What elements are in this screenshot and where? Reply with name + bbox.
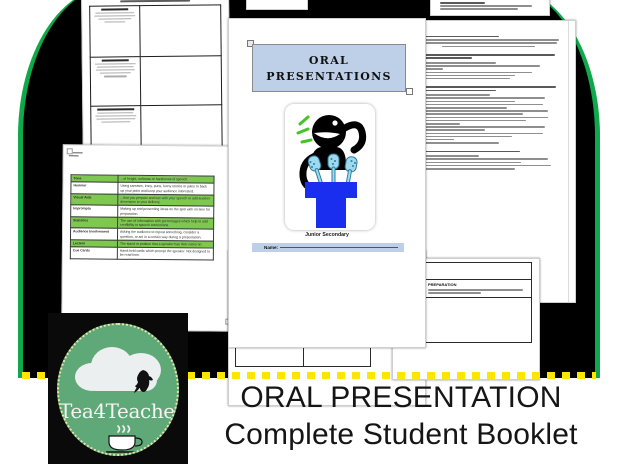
table-row — [90, 56, 222, 106]
cover-name-writing-line — [280, 247, 398, 248]
preparation-heading: PREPARATION — [428, 282, 457, 287]
structure-row-answer-cell[interactable] — [139, 5, 221, 57]
document-page-glossary: Tone...of height, softness or harshness … — [61, 144, 238, 332]
label-underline — [97, 108, 135, 110]
survey-option-list — [424, 155, 562, 169]
cover-title-line1: ORAL — [309, 54, 349, 67]
label-underline — [101, 59, 129, 61]
glossary-term-cell: Statistics — [71, 217, 118, 229]
survey-option-list — [424, 94, 562, 143]
glossary-table: Tone...of height, softness or harshness … — [70, 174, 215, 260]
textbox-handle-bottom-right[interactable] — [406, 88, 413, 95]
cover-name-field[interactable]: Name: — [252, 243, 404, 252]
teacup-icon — [103, 425, 143, 455]
glossary-term-cell: Cue Cards — [70, 247, 117, 259]
prep-answer-cell[interactable] — [426, 263, 532, 280]
cover-subtitle: Junior Secondary — [228, 232, 426, 238]
sheet-edge — [246, 0, 308, 10]
speaker-at-podium-icon — [285, 104, 375, 230]
logo-circle: Tea4Teacher — [57, 323, 179, 456]
glossary-term-cell: Humour — [71, 182, 118, 194]
glossary-definition-cell: Asking the audience to repeat something,… — [117, 228, 213, 240]
table-row: Cue CardsHand-held cards which prompt th… — [70, 247, 213, 260]
cover-title-line2: PRESENTATIONS — [266, 70, 392, 83]
glossary-definition-cell: Using sarcasm, irony, puns, funny storie… — [118, 182, 214, 194]
survey-question — [412, 54, 562, 79]
document-thumbnail-top-right — [430, 0, 550, 16]
product-title-line1: ORAL PRESENTATION — [196, 381, 606, 415]
product-cover-image: Tone...of height, softness or harshness … — [0, 0, 618, 464]
document-thumbnail-top-center — [246, 0, 308, 10]
glossary-term-cell: Visual Aids — [71, 194, 118, 206]
label-underline — [101, 8, 129, 10]
cover-name-label: Name: — [264, 245, 278, 250]
structure-row-answer-cell[interactable] — [140, 56, 222, 106]
bird-icon — [132, 369, 154, 393]
table-row — [90, 5, 222, 57]
prep-heading-cell: PREPARATION — [426, 280, 532, 298]
product-title-line2: Complete Student Booklet — [196, 418, 606, 452]
survey-option-list — [424, 62, 562, 80]
survey-question — [412, 151, 562, 170]
document-page-cover: ORAL PRESENTATIONS — [228, 18, 426, 348]
selection-handle-top-left[interactable] — [67, 148, 73, 154]
structure-row-label-cell — [90, 56, 140, 106]
glossary-definition-cell: The use of information with percentages … — [118, 217, 214, 229]
survey-intro — [412, 39, 562, 47]
brand-logo-badge: Tea4Teacher — [48, 313, 188, 464]
cover-title-box[interactable]: ORAL PRESENTATIONS — [252, 44, 406, 92]
glossary-table-body: Tone...of height, softness or harshness … — [70, 175, 214, 260]
glossary-definition-cell: Hand-held cards which prompt the speaker… — [117, 247, 213, 259]
prep-answer-cell[interactable] — [426, 298, 532, 343]
page-gutter — [568, 20, 576, 303]
glossary-definition-cell: ...that you prepare and use with your sp… — [118, 194, 214, 206]
structure-row-label-cell — [90, 5, 140, 57]
survey-question — [412, 86, 562, 143]
logo-wordmark: Tea4Teacher — [59, 399, 177, 423]
glossary-definition-cell: Making up and presenting ideas on the sp… — [118, 205, 214, 217]
survey-heading — [412, 36, 562, 38]
glossary-term-cell: Impromptu — [71, 205, 118, 217]
glossary-term-cell: Audience Involvement — [70, 228, 117, 240]
